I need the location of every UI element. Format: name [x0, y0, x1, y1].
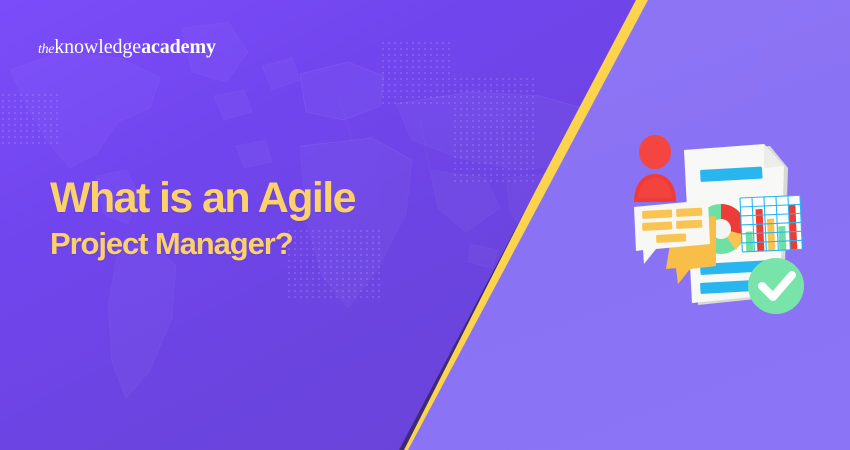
logo-the: the — [38, 42, 54, 57]
report-document-illustration — [612, 128, 827, 323]
banner-root: theknowledgeacademy What is an Agile Pro… — [0, 0, 850, 450]
page-title-line-2: Project Manager? — [50, 228, 355, 260]
logo-knowledge: knowledge — [54, 36, 141, 58]
person-avatar-icon — [634, 135, 676, 202]
logo[interactable]: theknowledgeacademy — [38, 37, 216, 57]
page-title-line-1: What is an Agile — [50, 176, 355, 221]
logo-academy: academy — [141, 36, 216, 58]
page-title: What is an Agile Project Manager? — [50, 176, 355, 260]
bar-chart-icon — [740, 195, 802, 252]
checkmark-badge-icon — [748, 258, 804, 314]
